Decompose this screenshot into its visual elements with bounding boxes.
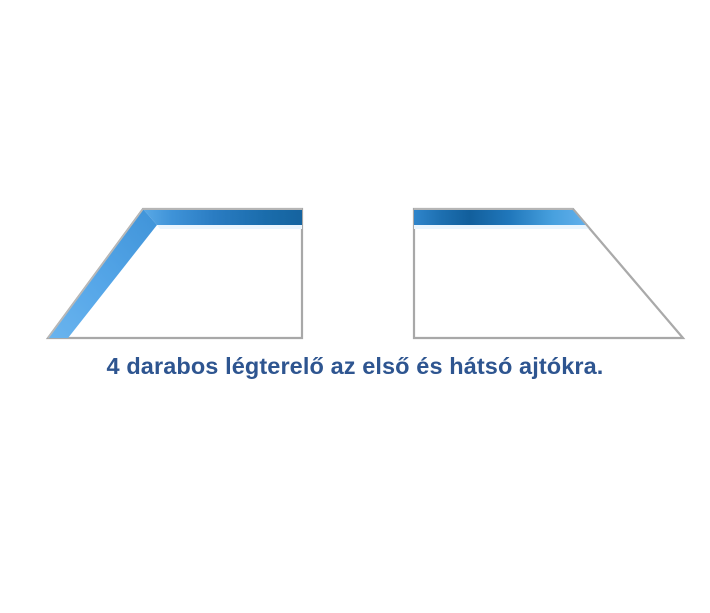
front-door-top-band	[143, 209, 302, 225]
front-door-deflector-shape	[48, 209, 302, 338]
rear-door-top-band	[414, 209, 587, 225]
product-illustration-page: 4 darabos légterelő az első és hátsó ajt…	[0, 0, 710, 613]
deflector-diagram	[0, 0, 710, 350]
rear-door-band-highlight	[414, 225, 590, 229]
product-caption: 4 darabos légterelő az első és hátsó ajt…	[0, 353, 710, 380]
front-door-band-highlight	[157, 225, 302, 229]
rear-door-deflector-shape	[414, 209, 683, 338]
